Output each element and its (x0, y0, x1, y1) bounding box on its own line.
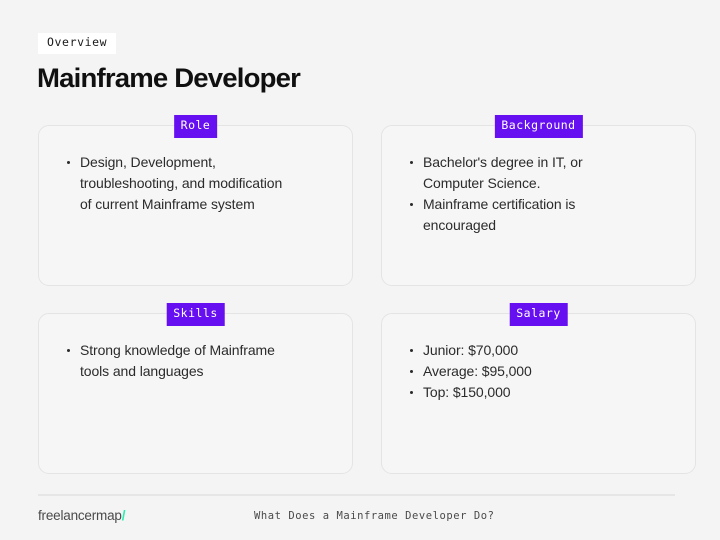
list-item: Top: $150,000 (409, 382, 677, 403)
list-item: Junior: $70,000 (409, 340, 677, 361)
list-item: Average: $95,000 (409, 361, 677, 382)
brand-slash-icon: / (122, 508, 126, 523)
card-grid: Role Design, Development, troubleshootin… (38, 125, 696, 474)
footer: freelancermap/ What Does a Mainframe Dev… (38, 505, 682, 531)
list-item: Strong knowledge of Mainframe tools and … (66, 340, 334, 382)
card-badge-role: Role (174, 115, 218, 138)
card-role: Role Design, Development, troubleshootin… (38, 125, 353, 286)
card-background: Background Bachelor's degree in IT, or C… (381, 125, 696, 286)
card-body-salary: Junior: $70,000 Average: $95,000 Top: $1… (382, 314, 695, 403)
list-item: Design, Development, troubleshooting, an… (66, 152, 334, 215)
slide-root: Overview Mainframe Developer Role Design… (0, 0, 720, 540)
card-badge-background: Background (494, 115, 582, 138)
brand-logo: freelancermap/ (38, 507, 125, 525)
brand-name: freelancermap (38, 508, 122, 523)
list-item: Bachelor's degree in IT, or Computer Sci… (409, 152, 677, 194)
page-title: Mainframe Developer (37, 62, 300, 94)
card-salary: Salary Junior: $70,000 Average: $95,000 … (381, 313, 696, 474)
card-badge-salary: Salary (509, 303, 568, 326)
footer-caption: What Does a Mainframe Developer Do? (254, 508, 495, 524)
eyebrow-label: Overview (38, 33, 116, 54)
card-skills: Skills Strong knowledge of Mainframe too… (38, 313, 353, 474)
card-body-background: Bachelor's degree in IT, or Computer Sci… (382, 126, 695, 236)
card-badge-skills: Skills (166, 303, 225, 326)
card-body-role: Design, Development, troubleshooting, an… (39, 126, 352, 215)
footer-divider (38, 494, 675, 496)
list-item: Mainframe certification is encouraged (409, 194, 677, 236)
